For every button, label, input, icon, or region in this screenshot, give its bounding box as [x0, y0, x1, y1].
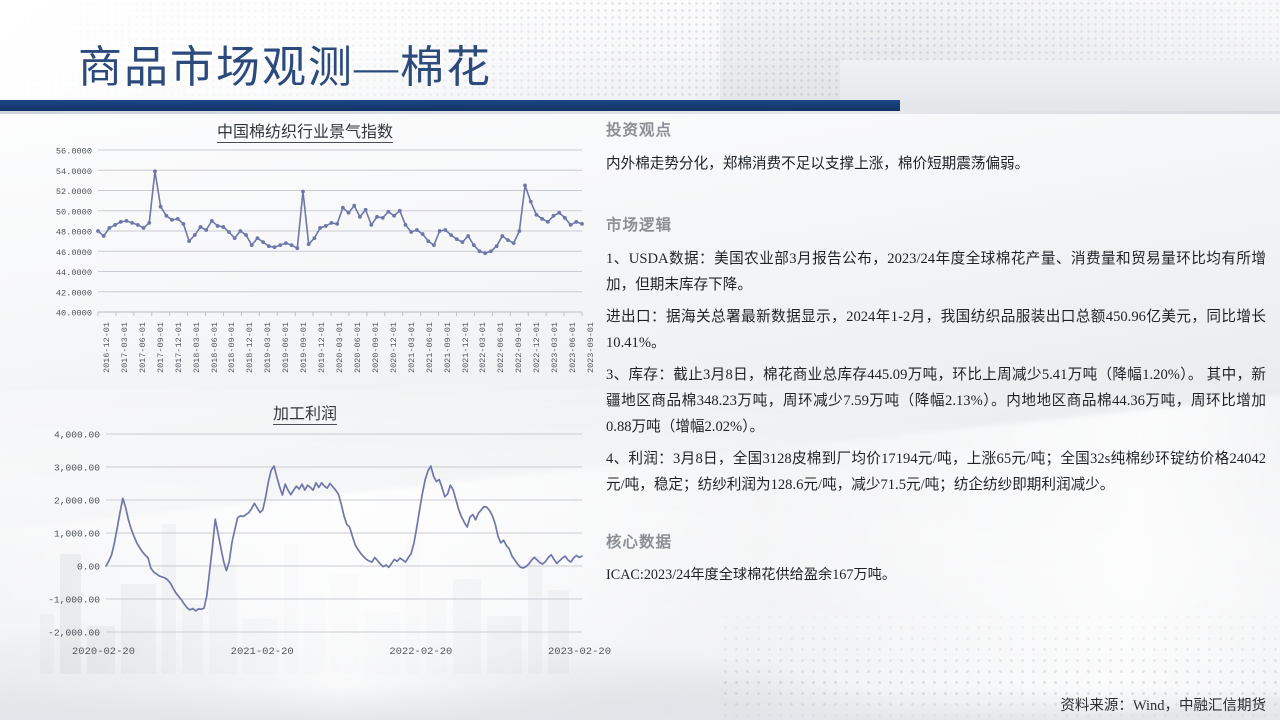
- y-tick-label: 1,000.00: [54, 529, 100, 540]
- x-tick-label: 2023-02-20: [548, 646, 611, 658]
- spacer-1: [606, 183, 1266, 213]
- series-point: [210, 219, 214, 223]
- slide-root: 商品市场观测—棉花 中国棉纺织行业景气指数 56.000054.000052.0…: [0, 0, 1280, 720]
- series-point: [273, 245, 277, 249]
- series-point: [307, 242, 311, 246]
- series-point: [483, 251, 487, 255]
- series-point: [244, 233, 248, 237]
- x-tick-label: 2020-06-01: [353, 322, 363, 373]
- x-tick-label: 2021-02-20: [231, 646, 294, 658]
- chart1-svg: 56.000054.000052.000050.000048.000046.00…: [20, 142, 590, 322]
- x-tick-label: 2017-03-01: [120, 322, 130, 373]
- x-tick-label: 2022-12-01: [532, 322, 542, 373]
- series-point: [102, 234, 106, 238]
- series-point: [540, 217, 544, 221]
- series-point: [569, 223, 573, 227]
- x-tick-label: 2020-03-01: [335, 322, 345, 373]
- series-point: [136, 223, 140, 227]
- x-tick-label: 2021-09-01: [443, 322, 453, 373]
- x-tick-label: 2019-09-01: [299, 322, 309, 373]
- series-point: [381, 216, 385, 220]
- x-tick-label: 2019-12-01: [317, 322, 327, 373]
- series-point: [170, 218, 174, 222]
- y-tick-label: 48.0000: [56, 228, 92, 238]
- series-point: [432, 243, 436, 247]
- series-point: [125, 219, 129, 223]
- y-tick-label: 4,000.00: [54, 430, 100, 441]
- chart2-xaxis-labels: 2020-02-202021-02-202022-02-202023-02-20: [20, 644, 590, 666]
- header-underline: [0, 111, 1280, 114]
- chart-processing-profit: 加工利润 4,000.003,000.002,000.001,000.000.0…: [20, 400, 590, 680]
- market-logic-paragraph-4: 4、利润：3月8日，全国3128皮棉到厂均价17194元/吨，上涨65元/吨；全…: [606, 446, 1266, 498]
- series-point: [130, 221, 134, 225]
- series-point: [523, 184, 527, 188]
- series-point: [443, 228, 447, 232]
- y-tick-label: 3,000.00: [54, 463, 100, 474]
- series-point: [261, 240, 265, 244]
- commentary-panel: 投资观点 内外棉走势分化，郑棉消费不足以支撑上涨，棉价短期震荡偏弱。 市场逻辑 …: [606, 118, 1266, 698]
- series-point: [535, 213, 539, 217]
- series-point: [164, 214, 168, 218]
- series-point: [512, 241, 516, 245]
- series-point: [347, 211, 351, 215]
- series-point: [387, 210, 391, 214]
- y-tick-label: 50.0000: [56, 207, 92, 217]
- x-tick-label: 2021-06-01: [425, 322, 435, 373]
- x-tick-label: 2020-02-20: [72, 646, 135, 658]
- series-point: [335, 222, 339, 226]
- y-tick-label: -1,000.00: [48, 595, 100, 606]
- chart1-title-text: 中国棉纺织行业景气指数: [217, 124, 393, 143]
- x-tick-label: 2020-09-01: [371, 322, 381, 373]
- series-point: [438, 229, 442, 233]
- series-point: [404, 223, 408, 227]
- series-point: [415, 228, 419, 232]
- market-logic-paragraph-1: 1、USDA数据：美国农业部3月报告公布，2023/24年度全球棉花产量、消费量…: [606, 246, 1266, 298]
- series-point: [489, 249, 493, 253]
- series-point: [552, 214, 556, 218]
- x-tick-label: 2018-06-01: [210, 322, 220, 373]
- chart2-title: 加工利润: [20, 400, 590, 424]
- y-tick-label: 2,000.00: [54, 496, 100, 507]
- series-point: [375, 215, 379, 219]
- x-tick-label: 2022-03-01: [478, 322, 488, 373]
- series-point: [119, 220, 123, 224]
- series-point: [392, 214, 396, 218]
- series-point: [295, 246, 299, 250]
- series-point: [449, 233, 453, 237]
- y-tick-label: 40.0000: [56, 309, 92, 319]
- y-tick-label: 42.0000: [56, 288, 92, 298]
- series-point: [461, 240, 465, 244]
- slide-header: 商品市场观测—棉花: [0, 0, 1280, 112]
- series-point: [312, 236, 316, 240]
- series-point: [563, 216, 567, 220]
- section-heading-market-logic: 市场逻辑: [606, 213, 1266, 235]
- series-point: [455, 237, 459, 241]
- chart1-plot-area: 56.000054.000052.000050.000048.000046.00…: [20, 142, 590, 384]
- x-tick-label: 2023-03-01: [550, 322, 560, 373]
- x-tick-label: 2020-12-01: [389, 322, 399, 373]
- x-tick-label: 2022-02-20: [389, 646, 452, 658]
- x-tick-label: 2019-03-01: [263, 322, 273, 373]
- series-point: [216, 224, 220, 228]
- series-point: [364, 208, 368, 212]
- chart1-title: 中国棉纺织行业景气指数: [20, 118, 590, 142]
- section-heading-investment-view: 投资观点: [606, 118, 1266, 140]
- x-tick-label: 2016-12-01: [102, 322, 112, 373]
- series-point: [330, 221, 334, 225]
- series-point: [290, 243, 294, 247]
- market-logic-paragraph-2: 进出口：据海关总署最新数据显示，2024年1-2月，我国纺织品服装出口总额450…: [606, 304, 1266, 356]
- series-point: [580, 222, 584, 226]
- series-point: [341, 206, 345, 210]
- series-point: [398, 209, 402, 213]
- series-point: [574, 220, 578, 224]
- series-point: [284, 241, 288, 245]
- core-data-text: ICAC:2023/24年度全球棉花供给盈余167万吨。: [606, 563, 1266, 587]
- series-point: [278, 243, 282, 247]
- x-tick-label: 2017-06-01: [138, 322, 148, 373]
- series-point: [426, 239, 430, 243]
- x-tick-label: 2022-06-01: [496, 322, 506, 373]
- x-tick-label: 2022-09-01: [514, 322, 524, 373]
- section-heading-core-data: 核心数据: [606, 530, 1266, 552]
- series-point: [142, 226, 146, 230]
- chart2-title-text: 加工利润: [273, 406, 337, 425]
- series-point: [107, 226, 111, 230]
- spacer-2: [606, 504, 1266, 530]
- x-tick-label: 2019-06-01: [281, 322, 291, 373]
- x-tick-label: 2023-09-01: [586, 322, 596, 373]
- y-tick-label: 56.0000: [56, 147, 92, 157]
- series-point: [204, 228, 208, 232]
- series-point: [409, 230, 413, 234]
- series-point: [113, 223, 117, 227]
- series-point: [324, 224, 328, 228]
- series-point: [506, 238, 510, 242]
- series-point: [153, 169, 157, 173]
- series-point: [466, 234, 470, 238]
- series-point: [546, 220, 550, 224]
- series-point: [193, 233, 197, 237]
- series-point: [199, 225, 203, 229]
- x-tick-label: 2021-03-01: [407, 322, 417, 373]
- series-point: [176, 217, 180, 221]
- series-point: [182, 222, 186, 226]
- series-point: [221, 225, 225, 229]
- y-tick-label: 46.0000: [56, 248, 92, 258]
- series-point: [352, 204, 356, 208]
- series-point: [421, 232, 425, 236]
- chart-cotton-textile-prosperity-index: 中国棉纺织行业景气指数 56.000054.000052.000050.0000…: [20, 118, 590, 396]
- series-point: [233, 236, 237, 240]
- y-tick-label: 52.0000: [56, 187, 92, 197]
- series-point: [517, 229, 521, 233]
- investment-view-text: 内外棉走势分化，郑棉消费不足以支撑上涨，棉价短期震荡偏弱。: [606, 151, 1266, 177]
- series-point: [301, 190, 305, 194]
- x-tick-label: 2018-12-01: [245, 322, 255, 373]
- series-point: [369, 223, 373, 227]
- chart1-xaxis-labels: 2016-12-012017-03-012017-06-012017-09-01…: [20, 322, 590, 384]
- series-line: [106, 466, 582, 611]
- series-point: [358, 215, 362, 219]
- x-tick-label: 2018-09-01: [227, 322, 237, 373]
- series-point: [318, 226, 322, 230]
- series-point: [250, 243, 254, 247]
- chart2-svg: 4,000.003,000.002,000.001,000.000.00-1,0…: [20, 424, 590, 644]
- page-title: 商品市场观测—棉花: [78, 31, 492, 95]
- y-tick-label: -2,000.00: [48, 628, 100, 639]
- series-point: [187, 239, 191, 243]
- series-point: [96, 229, 100, 233]
- series-point: [495, 244, 499, 248]
- y-tick-label: 44.0000: [56, 268, 92, 278]
- market-logic-paragraph-3: 3、库存：截止3月8日，棉花商业总库存445.09万吨，环比上周减少5.41万吨…: [606, 362, 1266, 440]
- x-tick-label: 2017-09-01: [156, 322, 166, 373]
- series-point: [267, 244, 271, 248]
- series-point: [478, 249, 482, 253]
- series-point: [500, 234, 504, 238]
- chart2-plot-area: 4,000.003,000.002,000.001,000.000.00-1,0…: [20, 424, 590, 666]
- x-tick-label: 2018-03-01: [192, 322, 202, 373]
- series-point: [238, 229, 242, 233]
- header-accent-bar: [0, 100, 900, 111]
- series-point: [159, 205, 163, 209]
- x-tick-label: 2023-06-01: [568, 322, 578, 373]
- source-note: 资料来源：Wind，中融汇信期货: [1060, 694, 1266, 715]
- y-tick-label: 0.00: [77, 562, 100, 573]
- series-point: [472, 243, 476, 247]
- series-point: [557, 211, 561, 215]
- series-point: [147, 221, 151, 225]
- x-tick-label: 2017-12-01: [174, 322, 184, 373]
- series-point: [227, 230, 231, 234]
- x-tick-label: 2021-12-01: [461, 322, 471, 373]
- header-right-panel: [840, 60, 1280, 112]
- y-tick-label: 54.0000: [56, 167, 92, 177]
- series-point: [256, 236, 260, 240]
- series-point: [529, 200, 533, 204]
